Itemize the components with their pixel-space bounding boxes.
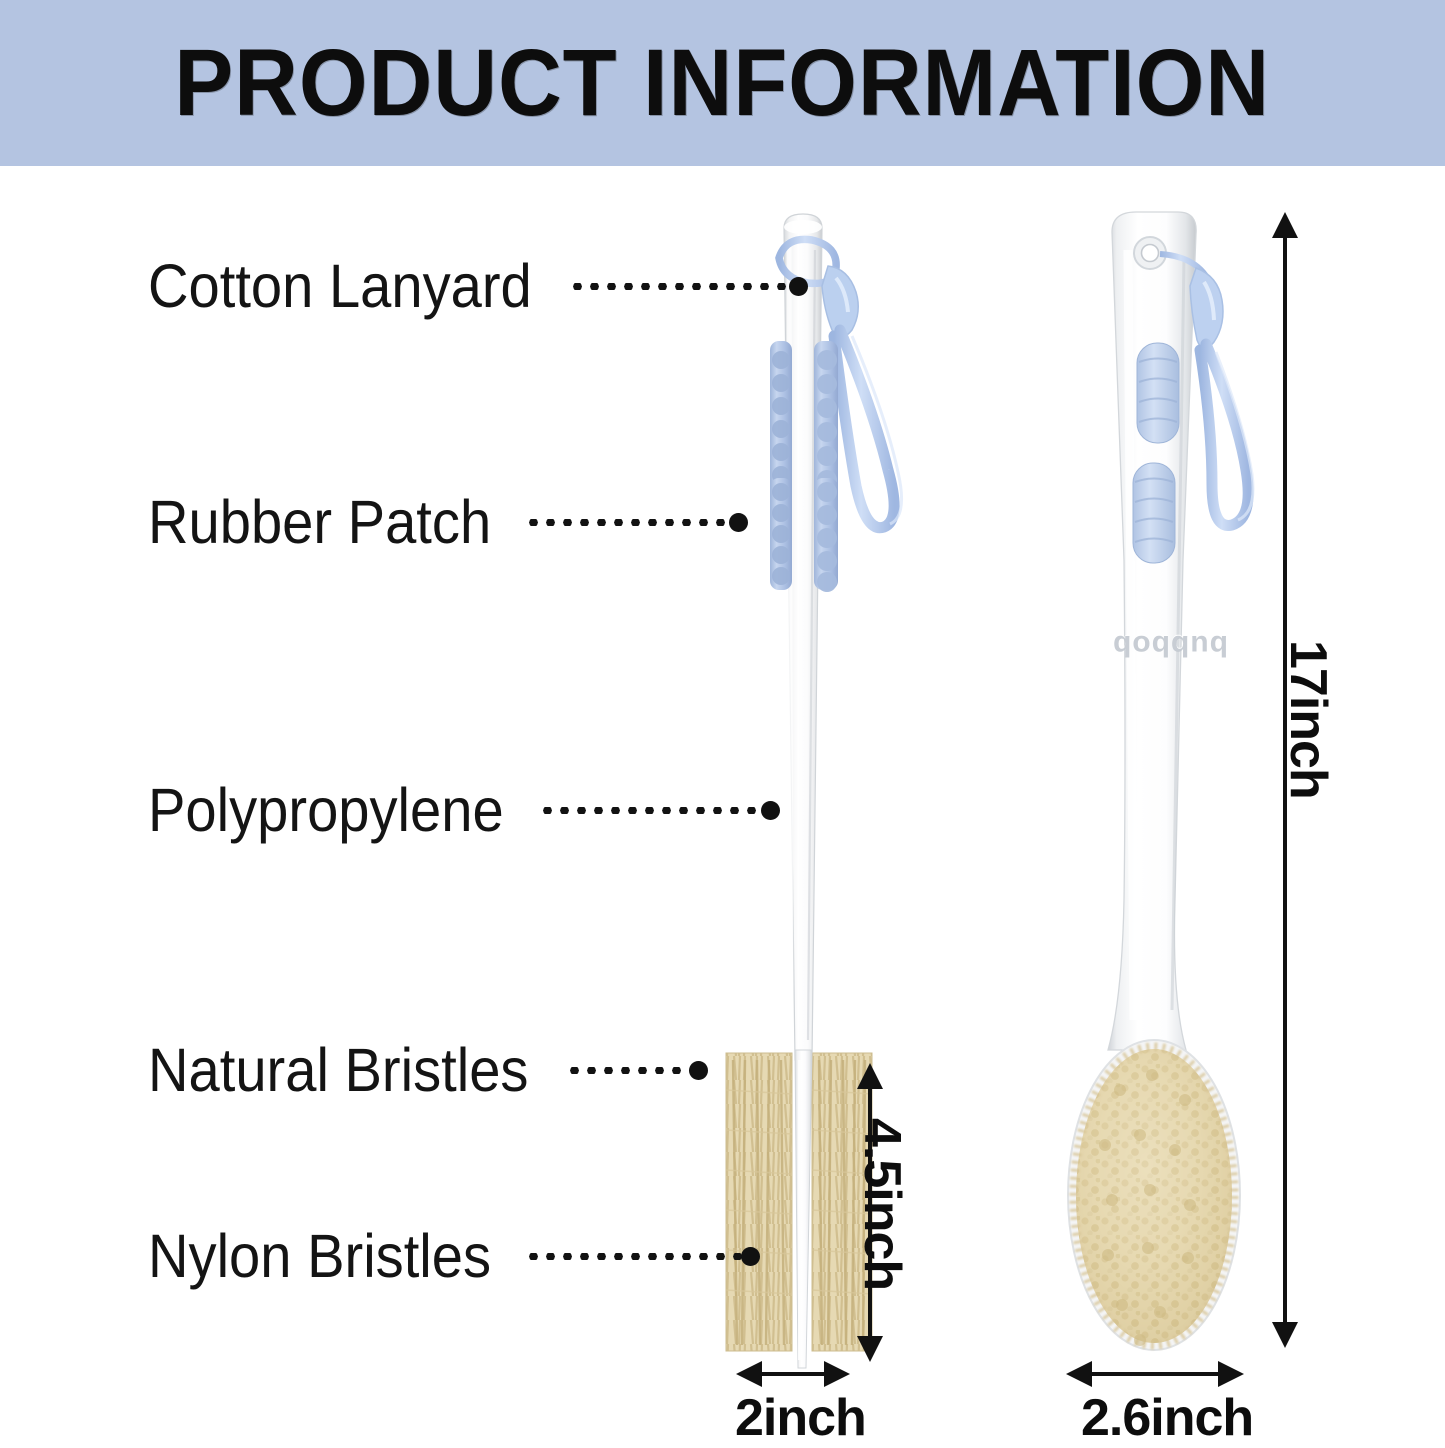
callout-label-nylon-bristles: Nylon Bristles: [148, 1226, 491, 1287]
callout-natural-bristles: Natural Bristles: [148, 1040, 701, 1101]
oval-bristle-head: [1068, 1040, 1240, 1350]
polypropylene-handle: [784, 214, 822, 1060]
rubber-patch-2-left: [769, 476, 792, 589]
rubber-patch-2: [770, 478, 792, 590]
dimension-label-2p6inch: 2.6inch: [1081, 1388, 1253, 1448]
cotton-lanyard-right: [1160, 254, 1253, 525]
dimension-label-17inch: 17inch: [1278, 640, 1338, 799]
leader-endpoint-dot: [741, 1247, 760, 1266]
dimension-label-2inch: 2inch: [735, 1388, 866, 1448]
brand-emboss-text: bubbob: [1112, 628, 1228, 662]
callout-label-natural-bristles: Natural Bristles: [148, 1040, 528, 1101]
rubber-patch-lower-left-main: [770, 478, 838, 592]
rubber-patch-lower-left: [771, 478, 793, 588]
rubber-patch-lower-block: [769, 476, 792, 590]
rubber-patch-second-left: [770, 480, 792, 590]
rubber-patch-lower-visible-2: [769, 478, 792, 589]
leader-line-polypropylene: [539, 807, 773, 814]
callout-rubber-patch: Rubber Patch: [148, 492, 741, 553]
arrow-down-icon: [1272, 1322, 1298, 1348]
rubber-grip-lower-right: [1133, 463, 1175, 563]
arrow-down-icon: [857, 1336, 883, 1362]
rubber-patch-lower-real: [770, 479, 792, 589]
rubber-patch-upper-left: [770, 341, 838, 582]
leader-line-nylon-bristles: [525, 1253, 753, 1260]
rubber-grip-upper-right: [1137, 343, 1179, 443]
leader-endpoint-dot: [689, 1061, 708, 1080]
dimension-label-4p5inch: 4.5inch: [852, 1118, 912, 1290]
rubber-patch-lower-2: [769, 478, 792, 590]
dimension-line-horizontal: [1088, 1372, 1222, 1376]
product-illustration: [0, 0, 1445, 1431]
rubber-patch-lower-final-shape: [768, 478, 792, 590]
rubber-patch-bottom: [768, 477, 792, 590]
natural-bristles-row: [726, 1053, 792, 1351]
leader-endpoint-dot: [789, 277, 808, 296]
callout-polypropylene: Polypropylene: [148, 780, 773, 841]
dimension-line-horizontal: [758, 1372, 828, 1376]
rubber-patch-second: [769, 479, 792, 590]
rubber-patch-lower-group: [770, 480, 792, 588]
header-banner: PRODUCT INFORMATION: [0, 0, 1445, 166]
left-brush-head: [726, 1050, 872, 1368]
product-information-infographic: PRODUCT INFORMATION: [0, 0, 1445, 1431]
rubber-patch-lower-render-2: [769, 479, 792, 589]
rubber-patch-lower-visible: [769, 479, 792, 589]
callout-label-polypropylene: Polypropylene: [148, 780, 504, 841]
callout-nylon-bristles: Nylon Bristles: [148, 1226, 753, 1287]
rubber-patch-lower-left-2: [769, 477, 792, 589]
rubber-patch-lower-final: [770, 479, 792, 589]
leader-endpoint-dot: [729, 513, 748, 532]
arrow-right-icon: [824, 1361, 850, 1387]
callout-label-rubber-patch: Rubber Patch: [148, 492, 491, 553]
rubber-patch-set-2: [769, 481, 792, 589]
rubber-patch-lower-shape: [769, 476, 792, 588]
rubber-patch-lower-actual: [769, 477, 792, 588]
leader-line-rubber-patch: [525, 519, 741, 526]
leader-endpoint-dot: [761, 801, 780, 820]
right-brush-oval: [1068, 212, 1253, 1350]
page-title: PRODUCT INFORMATION: [175, 36, 1271, 131]
arrow-right-icon: [1218, 1361, 1244, 1387]
callout-cotton-lanyard: Cotton Lanyard: [148, 256, 801, 317]
rubber-patch-b: [769, 478, 792, 590]
leader-line-cotton-lanyard: [569, 283, 801, 290]
rubber-patch-lower-render: [769, 477, 792, 589]
hang-hole: [1134, 237, 1166, 269]
leader-line-natural-bristles: [566, 1067, 701, 1074]
callout-label-cotton-lanyard: Cotton Lanyard: [148, 256, 532, 317]
